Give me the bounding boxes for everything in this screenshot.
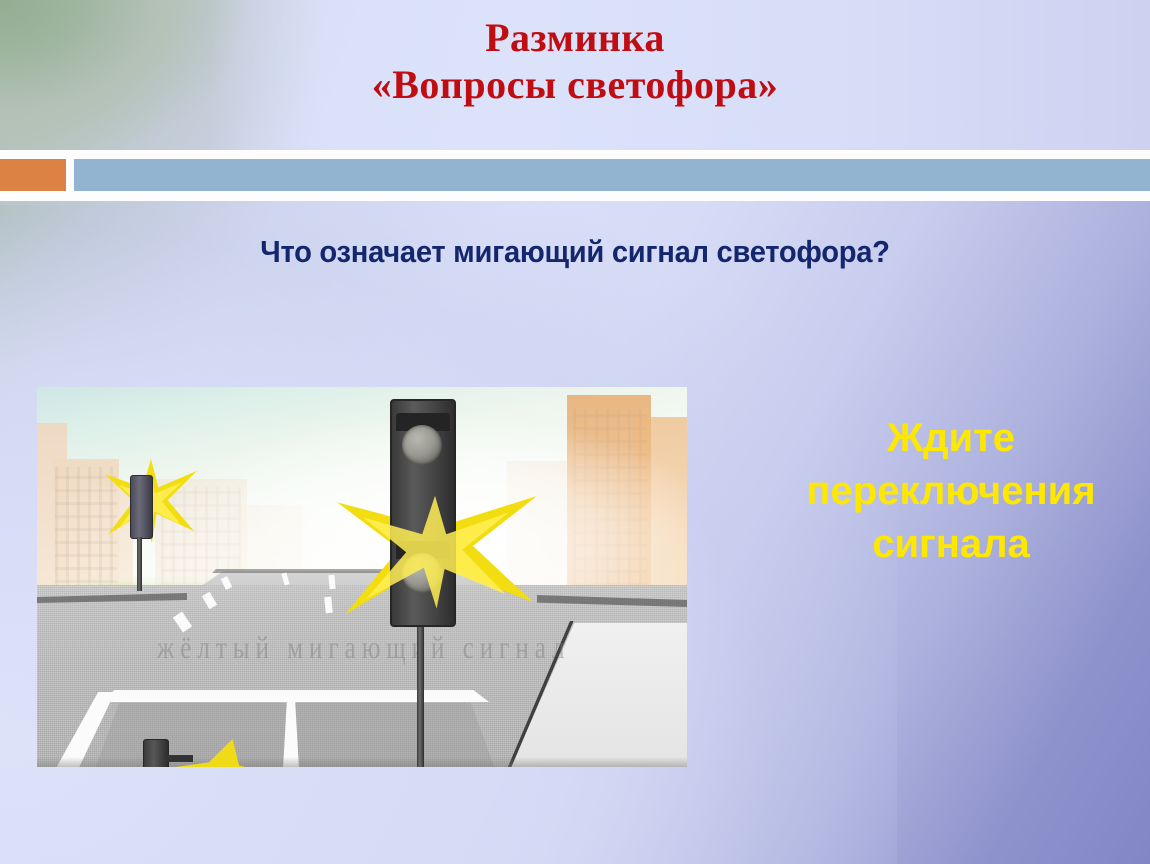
- divider-gap: [66, 159, 74, 191]
- pedestrian-traffic-light-icon: [143, 739, 169, 767]
- answer-line-1: Ждите: [760, 412, 1142, 465]
- page-title-line-2: «Вопросы светофора»: [0, 63, 1150, 106]
- traffic-light-pole: [417, 623, 424, 767]
- stop-line: [99, 690, 489, 702]
- answer-line-3: сигнала: [760, 518, 1142, 571]
- answer-text: Ждите переключения сигнала: [760, 412, 1142, 572]
- answer-line-2: переключения: [760, 465, 1142, 518]
- traffic-light-pole: [137, 537, 142, 591]
- divider-orange-block: [0, 159, 66, 191]
- traffic-light-icon: [130, 475, 153, 539]
- pedestrian-light-arm: [167, 755, 193, 762]
- road-ghost-text: жёлтый мигающий сигнал: [157, 632, 577, 667]
- page-title-line-1: Разминка: [0, 16, 1150, 59]
- divider-white-top: [0, 150, 1150, 159]
- intersection-illustration: жёлтый мигающий сигнал: [37, 387, 687, 767]
- slide-root: Разминка «Вопросы светофора» Что означае…: [0, 0, 1150, 864]
- divider-white-bottom: [0, 191, 1150, 201]
- traffic-light-icon: [390, 399, 456, 627]
- divider-bar: [0, 159, 1150, 191]
- traffic-light-lamp-upper: [402, 425, 442, 465]
- road-bottom-edge: [37, 757, 687, 767]
- page-title: Разминка «Вопросы светофора»: [0, 16, 1150, 106]
- divider-blue-block: [74, 159, 1150, 191]
- question-text: Что означает мигающий сигнал светофора?: [35, 234, 1116, 270]
- lane-dash: [328, 575, 335, 589]
